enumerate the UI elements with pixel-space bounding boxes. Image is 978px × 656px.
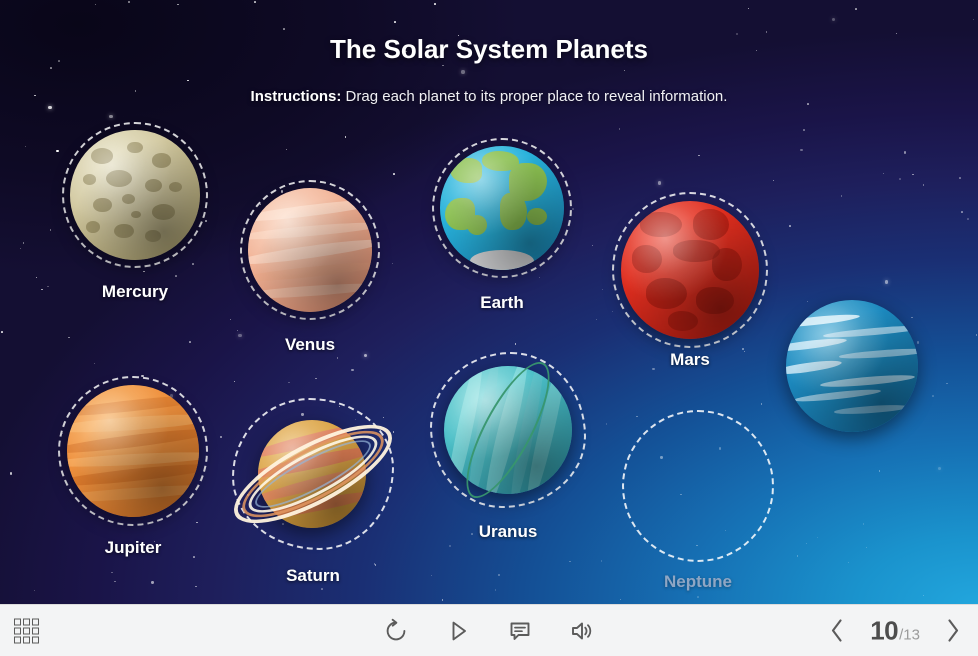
slot-label-uranus: Uranus (479, 522, 538, 542)
playback-controls (383, 618, 595, 644)
notes-button[interactable] (507, 618, 533, 644)
planet-mars[interactable] (621, 201, 759, 339)
slot-label-jupiter: Jupiter (105, 538, 162, 558)
volume-icon (569, 618, 595, 644)
planet-earth[interactable] (440, 146, 564, 270)
replay-button[interactable] (383, 618, 409, 644)
drop-ring-neptune (622, 410, 774, 562)
slot-label-venus: Venus (285, 335, 335, 355)
notes-icon (507, 618, 533, 644)
drop-slot-venus[interactable]: Venus (240, 180, 380, 320)
grid-menu-icon[interactable] (14, 618, 39, 643)
next-slide-button[interactable] (942, 617, 964, 645)
slot-label-neptune: Neptune (664, 572, 732, 592)
prev-slide-button[interactable] (826, 617, 848, 645)
draggable-planet-neptune[interactable] (786, 300, 918, 432)
drop-slot-mercury[interactable]: Mercury (62, 122, 208, 268)
space-stage: Mercury Venus (0, 0, 978, 605)
drop-slot-saturn[interactable]: Saturn (232, 398, 394, 550)
pagination: 10 /13 (826, 615, 964, 646)
instructions-text: Drag each planet to its proper place to … (341, 88, 727, 105)
slot-label-mercury: Mercury (102, 282, 168, 302)
slot-label-saturn: Saturn (286, 566, 340, 586)
uranus-body (444, 366, 572, 494)
drop-slot-mars[interactable]: Mars (612, 192, 768, 348)
planet-saturn[interactable] (232, 398, 394, 550)
drop-slot-jupiter[interactable]: Jupiter (58, 376, 208, 526)
slot-label-mars: Mars (670, 350, 710, 370)
menu-area (14, 618, 39, 643)
instructions-label: Instructions: (251, 88, 342, 105)
drop-slot-neptune[interactable]: Neptune (622, 410, 774, 562)
saturn-body (258, 420, 366, 528)
drop-slot-earth[interactable]: Earth (432, 138, 572, 278)
page-current: 10 (870, 615, 898, 646)
chevron-right-icon (942, 617, 964, 645)
page-total: /13 (899, 626, 920, 643)
drop-slot-uranus[interactable]: Uranus (430, 352, 586, 508)
solar-system-activity: Mercury Venus (0, 0, 978, 656)
planet-jupiter[interactable] (67, 385, 199, 517)
volume-button[interactable] (569, 618, 595, 644)
replay-icon (383, 618, 409, 644)
play-button[interactable] (445, 618, 471, 644)
instructions: Instructions: Drag each planet to its pr… (0, 88, 978, 106)
planet-venus[interactable] (248, 188, 372, 312)
slot-label-earth: Earth (480, 293, 523, 313)
page-title: The Solar System Planets (0, 34, 978, 65)
planet-uranus[interactable] (430, 352, 586, 508)
play-icon (445, 618, 471, 644)
player-navbar: 10 /13 (0, 604, 978, 656)
page-indicator: 10 /13 (870, 615, 920, 646)
planet-mercury[interactable] (70, 130, 200, 260)
chevron-left-icon (826, 617, 848, 645)
page-title-text: The Solar System Planets (330, 34, 648, 64)
